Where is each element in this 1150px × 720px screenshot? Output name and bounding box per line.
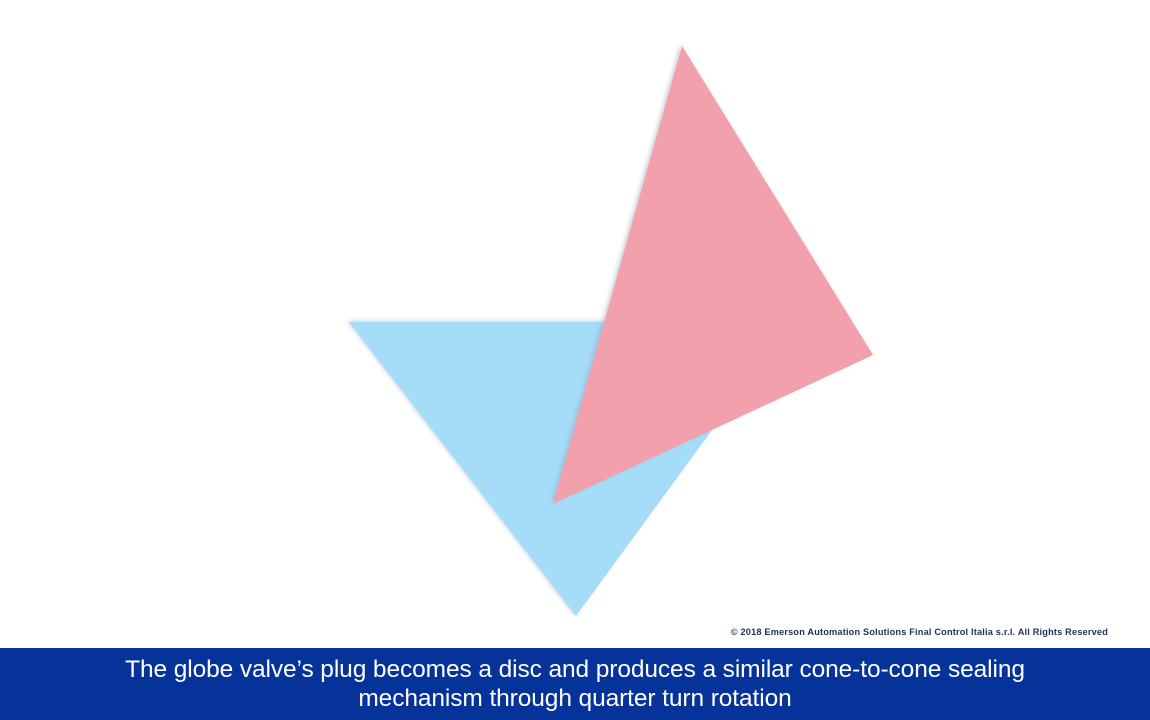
caption-bar: The globe valve’s plug becomes a disc an… [0,648,1150,720]
triangles-illustration [0,0,1150,648]
copyright-notice: © 2018 Emerson Automation Solutions Fina… [731,627,1108,637]
figure-stage [0,0,1150,648]
slide-canvas: © 2018 Emerson Automation Solutions Fina… [0,0,1150,720]
caption-line-1: The globe valve’s plug becomes a disc an… [75,655,1075,684]
caption-line-2: mechanism through quarter turn rotation [75,684,1075,713]
pink-triangle [553,46,873,504]
caption-text: The globe valve’s plug becomes a disc an… [75,655,1075,713]
